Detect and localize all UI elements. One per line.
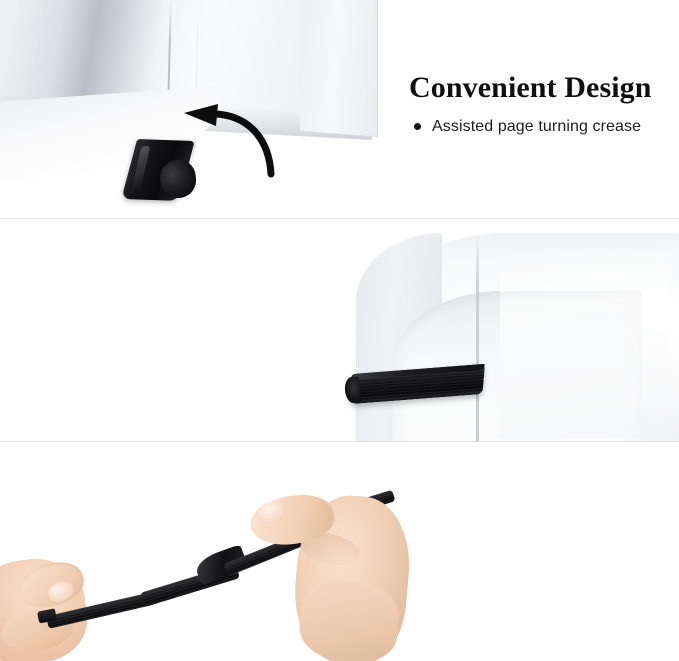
feature-panel-reliable-pp-material: Reliable PP Material Free to bend withou… — [0, 219, 679, 441]
panel-1-headline: Convenient Design — [409, 72, 671, 104]
pp-sheet-fold-edge — [476, 233, 479, 441]
cover-sheet-lip — [300, 0, 378, 137]
feature-panel-convenient-design: Convenient Design Assisted page turning … — [0, 0, 679, 218]
panel-3-product-image — [0, 442, 679, 661]
bullet-dot-icon — [414, 123, 421, 130]
panel-1-text-block: Convenient Design Assisted page turning … — [409, 72, 671, 136]
pp-sheet-highlight — [500, 249, 670, 439]
panel-2-product-image — [0, 219, 679, 441]
product-feature-infographic: Convenient Design Assisted page turning … — [0, 0, 679, 661]
panel-1-bullet-text: Assisted page turning crease — [432, 118, 641, 136]
right-hand-fingers — [297, 579, 400, 661]
feature-panel-premium-sliding-bar: Premium Sliding Bar 360° torsion without… — [0, 442, 679, 661]
curved-arrow-icon — [168, 104, 278, 180]
panel-1-bullet-row: Assisted page turning crease — [409, 118, 671, 136]
sliding-bar-end-cap — [344, 376, 361, 403]
